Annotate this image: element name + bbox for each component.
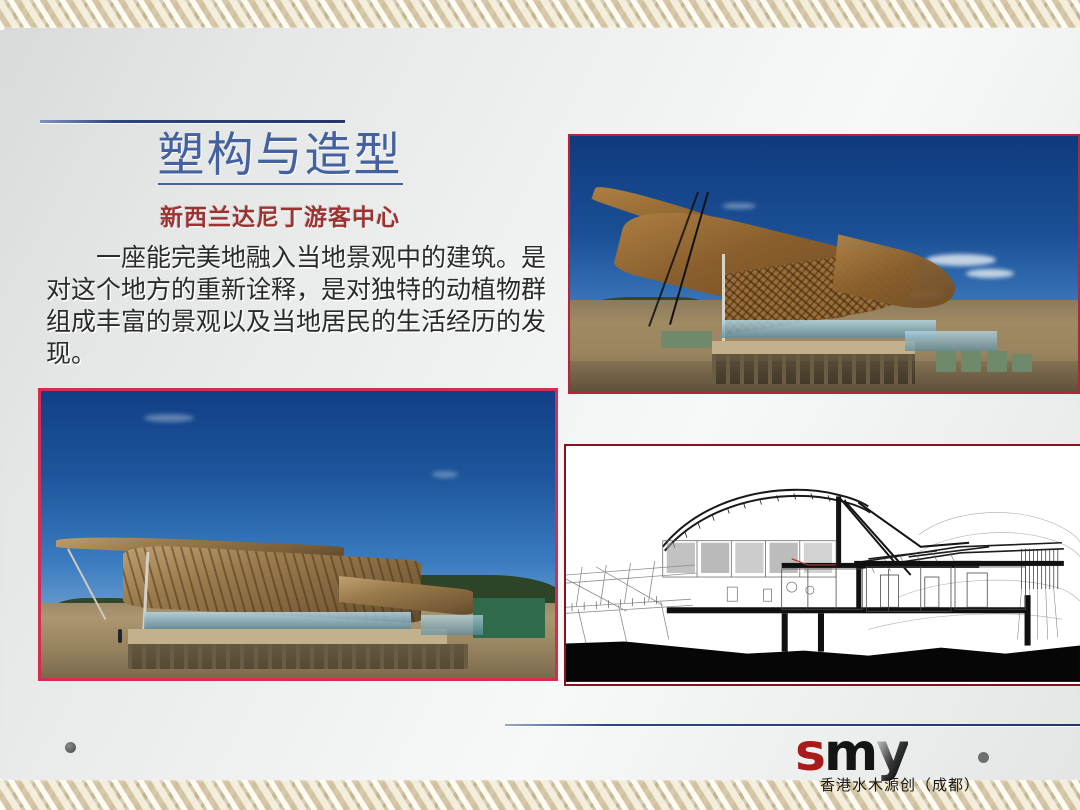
footer-rule	[505, 724, 1080, 726]
slide-content: 塑构与造型 新西兰达尼丁游客中心 一座能完美地融入当地景观中的建筑。是对这个地方…	[0, 0, 1080, 810]
project-subtitle: 新西兰达尼丁游客中心	[0, 198, 560, 232]
page-title: 塑构与造型	[0, 130, 560, 181]
visitor-centre-front-photo	[568, 134, 1080, 394]
logo-wordmark: smy	[795, 730, 1035, 776]
body-paragraph: 一座能完美地融入当地景观中的建筑。是对这个地方的重新诠释，是对独特的动植物群组成…	[46, 243, 546, 371]
logo-company-name: 香港水木源创（成都）	[795, 774, 1005, 795]
title-underline-rule	[40, 120, 345, 123]
page-title-text: 塑构与造型	[158, 128, 403, 185]
photo-content	[41, 391, 555, 678]
logo-dot	[978, 752, 989, 763]
visitor-centre-side-photo	[38, 388, 558, 681]
photo-content	[570, 136, 1078, 392]
presentation-slide: 塑构与造型 新西兰达尼丁游客中心 一座能完美地融入当地景观中的建筑。是对这个地方…	[0, 0, 1080, 810]
building-section-drawing	[564, 444, 1080, 686]
drawing-content	[566, 446, 1080, 684]
company-logo: smy 香港水木源创（成都）	[795, 730, 1035, 798]
decorative-dot	[65, 742, 76, 753]
